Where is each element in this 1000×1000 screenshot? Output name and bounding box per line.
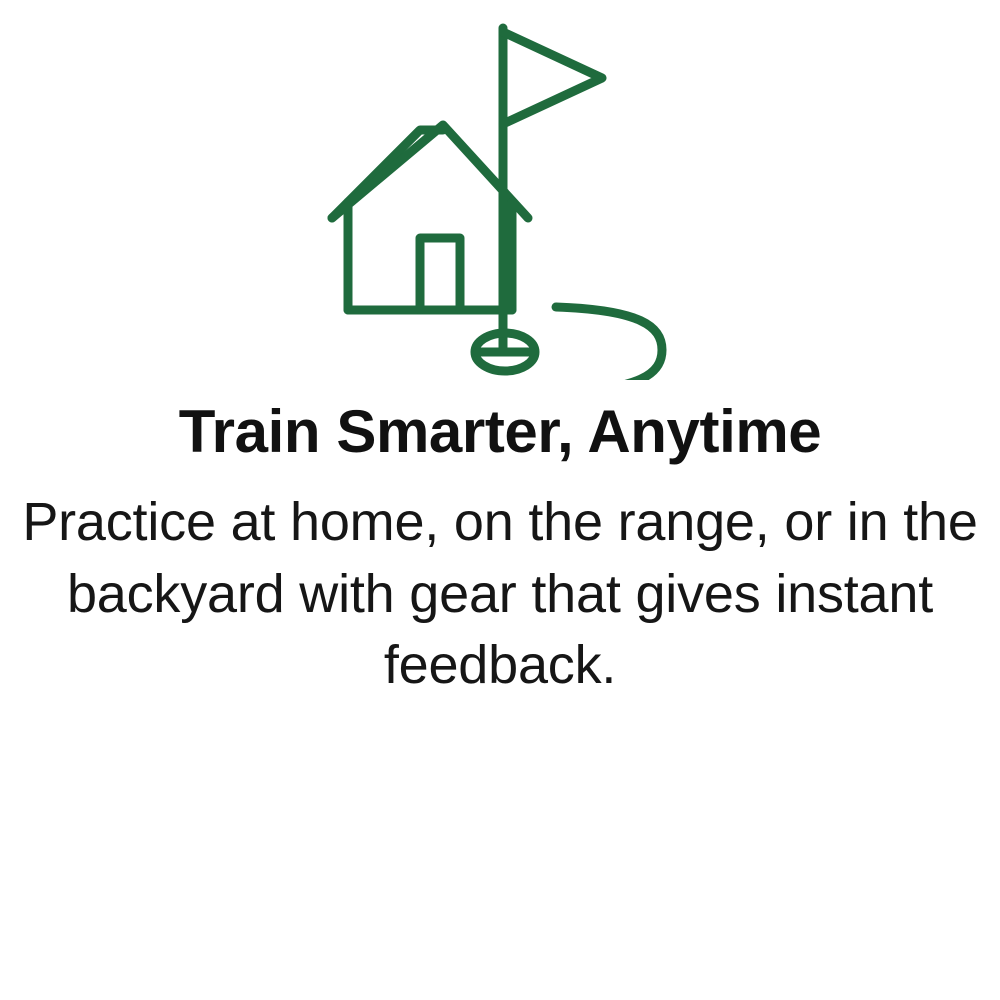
feature-icon-container (0, 0, 1000, 400)
golf-flag-triangle (503, 32, 602, 124)
house-door (420, 238, 460, 310)
home-practice-golf-icon (310, 20, 690, 380)
putting-green-arc (556, 307, 662, 380)
page-title: Train Smarter, Anytime (0, 400, 1000, 465)
feature-description: Practice at home, on the range, or in th… (0, 487, 1000, 702)
feature-text-block: Train Smarter, Anytime Practice at home,… (0, 400, 1000, 702)
feature-card: Train Smarter, Anytime Practice at home,… (0, 0, 1000, 1000)
